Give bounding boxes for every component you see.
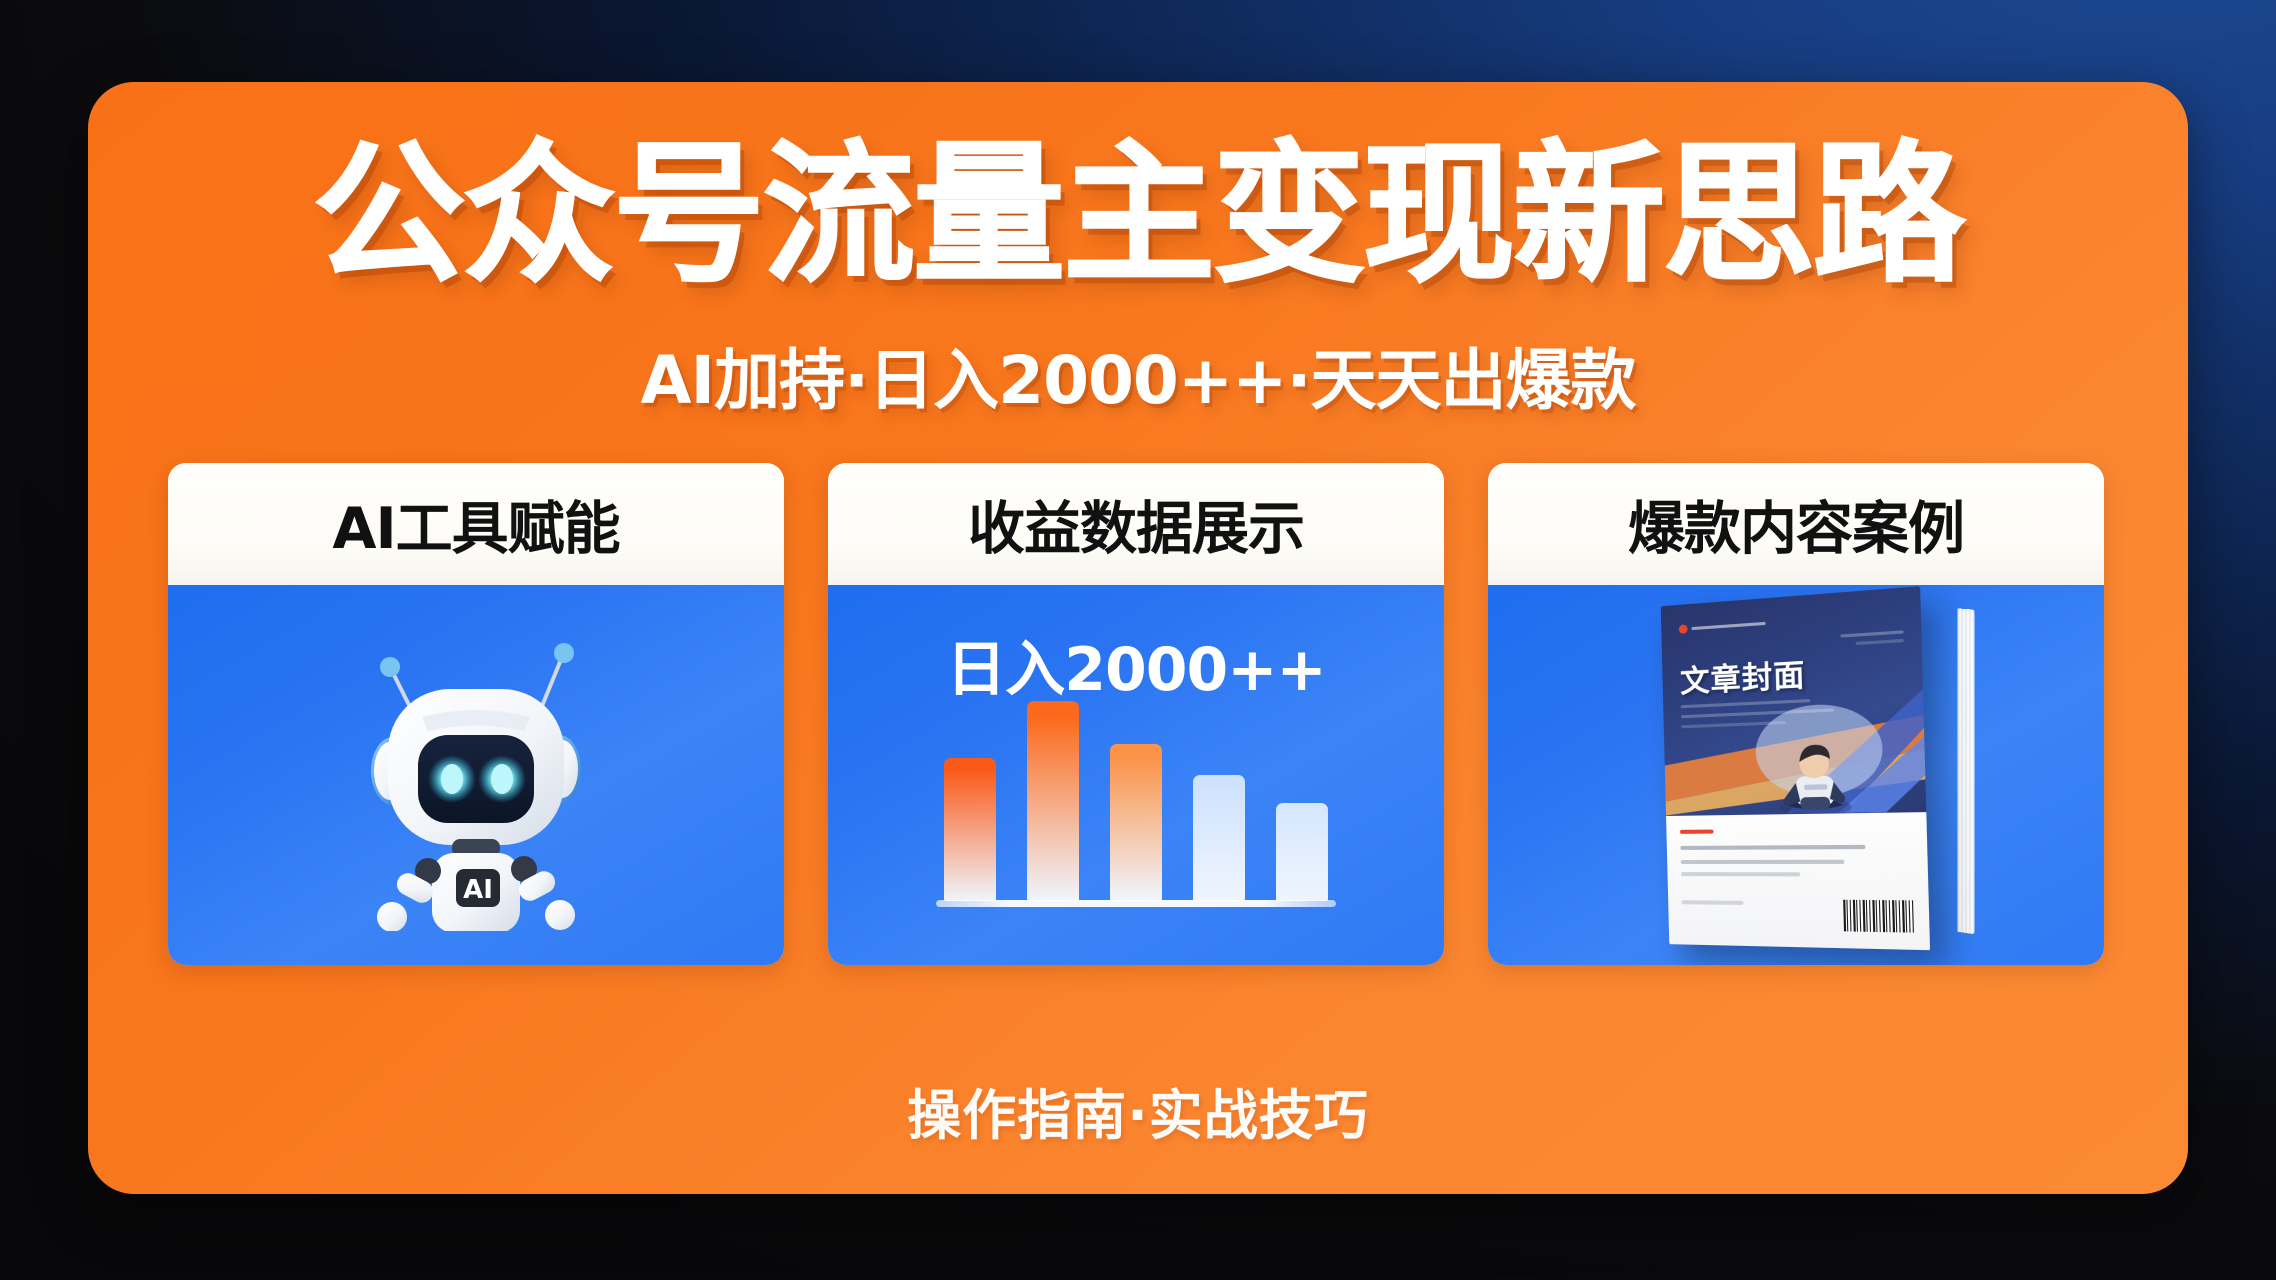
person-illustration [1763, 715, 1867, 815]
book-cover-title: 文章封面 [1679, 649, 1805, 701]
card-title: AI工具赋能 [332, 483, 619, 565]
poster-canvas: 公众号流量主变现新思路 AI加持·日入2000++·天天出爆款 AI工具赋能 [0, 0, 2276, 1280]
footer-caption: 操作指南·实战技巧 [907, 1084, 1369, 1147]
page-title: 公众号流量主变现新思路 [313, 136, 1963, 294]
book-back-line-3 [1681, 872, 1800, 876]
card-header: 收益数据展示 [828, 463, 1444, 585]
book-back-cover [1666, 812, 1930, 951]
book-back-heading [1680, 829, 1714, 833]
robot-chest-label: AI [463, 875, 493, 905]
book-publisher [1682, 900, 1744, 905]
card-row: AI工具赋能 [168, 463, 2108, 965]
page-subtitle: AI加持·日入2000++·天天出爆款 [640, 327, 1635, 423]
book-back-line-1 [1680, 844, 1865, 849]
chart-bar [944, 758, 996, 901]
book-badge-dot [1679, 624, 1688, 634]
book-back-line-2 [1681, 859, 1845, 863]
revenue-headline: 日入2000++ [828, 621, 1444, 708]
chart-bar [1193, 775, 1245, 901]
card-body: AI [168, 585, 784, 965]
book-cover-top: 文章封面 [1661, 586, 1927, 815]
card-ai-tools[interactable]: AI工具赋能 [168, 463, 784, 965]
card-body: 日入2000++ [828, 585, 1444, 965]
barcode-icon [1843, 900, 1914, 933]
card-body: 文章封面 [1488, 585, 2104, 965]
book-page-edge [1957, 608, 1974, 934]
title-block: 公众号流量主变现新思路 [88, 136, 2188, 294]
chart-axis-line [936, 900, 1336, 907]
card-title: 收益数据展示 [968, 483, 1304, 565]
subtitle-block: AI加持·日入2000++·天天出爆款 [88, 327, 2188, 423]
book-cover: 文章封面 [1661, 586, 1930, 950]
chart-bar [1027, 701, 1079, 901]
chart-bar [1110, 744, 1162, 901]
book-mockup: 文章封面 [1631, 600, 1961, 950]
card-header: AI工具赋能 [168, 463, 784, 585]
robot-icon: AI [326, 631, 626, 931]
chart-bar [1276, 803, 1328, 901]
orange-panel: 公众号流量主变现新思路 AI加持·日入2000++·天天出爆款 AI工具赋能 [88, 82, 2188, 1194]
footer-block: 操作指南·实战技巧 [88, 1071, 2188, 1150]
bar-chart-bars [944, 697, 1328, 901]
bar-chart [944, 697, 1328, 907]
card-header: 爆款内容案例 [1488, 463, 2104, 585]
card-case-study[interactable]: 爆款内容案例 [1488, 463, 2104, 965]
card-revenue[interactable]: 收益数据展示 日入2000++ [828, 463, 1444, 965]
card-title: 爆款内容案例 [1628, 483, 1964, 565]
